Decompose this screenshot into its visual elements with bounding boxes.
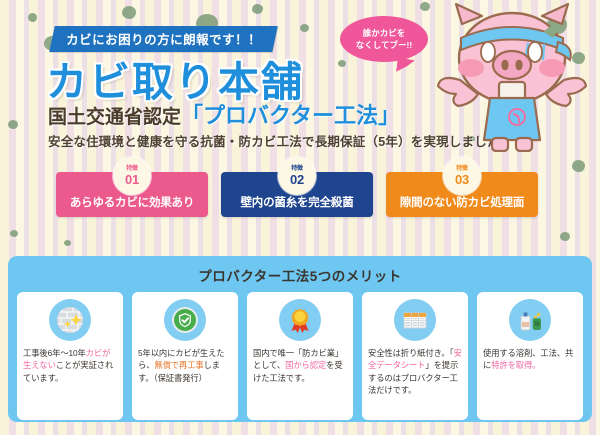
- mold-spot-icon: [420, 2, 430, 11]
- feature-badge-list: 特徴 01 あらゆるカビに効果あり 特徴 02 壁内の菌糸を完全殺菌 特徴 03…: [56, 172, 538, 217]
- feature-number: 02: [290, 173, 304, 186]
- feature-number-circle: 特徴 02: [278, 157, 316, 195]
- header-ribbon-text: カビにお困りの方に朗報です！！: [66, 29, 261, 48]
- subtitle-method-name: 「プロバクター工法」: [181, 103, 400, 128]
- feature-text: 壁内の菌糸を完全殺菌: [241, 194, 354, 210]
- merit-icon-wrap: [23, 299, 117, 341]
- mold-spot-icon: [122, 6, 136, 19]
- merit-text: 工事後6年～10年カビが生えないことが実証されています。: [23, 347, 117, 384]
- merit-card[interactable]: 5年以内にカビが生えたら、無償で再工事します。（保証書発行）: [132, 292, 238, 420]
- merit-text-highlight: 特許を取得。: [491, 360, 540, 370]
- merit-icon-wrap: [138, 299, 232, 341]
- merit-card[interactable]: 国内で唯一「防カビ業」として、国から認定を受けた工法です。: [247, 292, 353, 420]
- mold-spot-icon: [572, 160, 585, 172]
- mold-spot-icon: [252, 4, 263, 14]
- merit-card[interactable]: 工事後6年～10年カビが生えないことが実証されています。: [17, 292, 123, 420]
- document-table-icon: [394, 299, 436, 341]
- page-root: カビにお困りの方に朗報です！！ カビ取り本舗 国土交通省認定「プロバクター工法」…: [0, 0, 600, 435]
- merits-panel: プロバクター工法5つのメリット: [8, 256, 592, 422]
- feature-number: 01: [125, 173, 139, 186]
- mold-spot-icon: [300, 24, 309, 32]
- merit-text: 5年以内にカビが生えたら、無償で再工事します。（保証書発行）: [138, 347, 232, 384]
- feature-number: 03: [455, 173, 469, 186]
- merits-title: プロバクター工法5つのメリット: [8, 256, 592, 292]
- feature-badge-02[interactable]: 特徴 02 壁内の菌糸を完全殺菌: [221, 172, 373, 217]
- merit-icon-wrap: [253, 299, 347, 341]
- feature-text: あらゆるカビに効果あり: [70, 194, 194, 210]
- merit-icon-wrap: [368, 299, 462, 341]
- merit-text: 安全性は折り紙付き。「安全データシート」を提示するのはプロバクター工法だけです。: [368, 347, 462, 397]
- merit-card[interactable]: 使用する溶剤、工法、共に特許を取得。: [477, 292, 583, 420]
- mold-spot-icon: [8, 120, 18, 129]
- spray-bottle-icon: [509, 299, 551, 341]
- mold-spot-icon: [64, 240, 71, 246]
- bubble-line-1: 誰かカビを: [363, 27, 406, 39]
- merit-text-part: 安全性は折り紙付き。「: [368, 348, 454, 358]
- mold-spot-icon: [338, 60, 346, 67]
- mascot-speech-bubble: 誰かカビを なくしてブー!!: [340, 16, 428, 62]
- merit-text-highlight: 国から認定: [285, 360, 326, 370]
- feature-text: 隙間のない防カビ処理面: [400, 194, 524, 210]
- feature-badge-03[interactable]: 特徴 03 隙間のない防カビ処理面: [386, 172, 538, 217]
- subtitle-certification: 国土交通省認定: [48, 107, 181, 128]
- merit-text-highlight: 無償で再工事: [154, 360, 203, 370]
- feature-number-circle: 特徴 03: [443, 157, 481, 195]
- shield-check-icon: [164, 299, 206, 341]
- feature-number-circle: 特徴 01: [113, 157, 151, 195]
- subtitle-line: 国土交通省認定「プロバクター工法」: [48, 98, 400, 130]
- pig-mascot-icon: [432, 2, 592, 152]
- merit-text: 国内で唯一「防カビ業」として、国から認定を受けた工法です。: [253, 347, 347, 384]
- brick-wall-sparkle-icon: [49, 299, 91, 341]
- merit-card-list: 工事後6年～10年カビが生えないことが実証されています。: [8, 292, 592, 420]
- merit-icon-wrap: [483, 299, 577, 341]
- mold-spot-icon: [560, 232, 570, 241]
- bubble-line-2: なくしてブー!!: [356, 39, 412, 51]
- merit-text: 使用する溶剤、工法、共に特許を取得。: [483, 347, 577, 372]
- feature-badge-01[interactable]: 特徴 01 あらゆるカビに効果あり: [56, 172, 208, 217]
- award-medal-icon: [279, 299, 321, 341]
- merit-text-part: 工事後6年～10年: [23, 348, 86, 358]
- merit-card[interactable]: 安全性は折り紙付き。「安全データシート」を提示するのはプロバクター工法だけです。: [362, 292, 468, 420]
- mold-spot-icon: [28, 13, 37, 22]
- mold-spot-icon: [10, 230, 18, 237]
